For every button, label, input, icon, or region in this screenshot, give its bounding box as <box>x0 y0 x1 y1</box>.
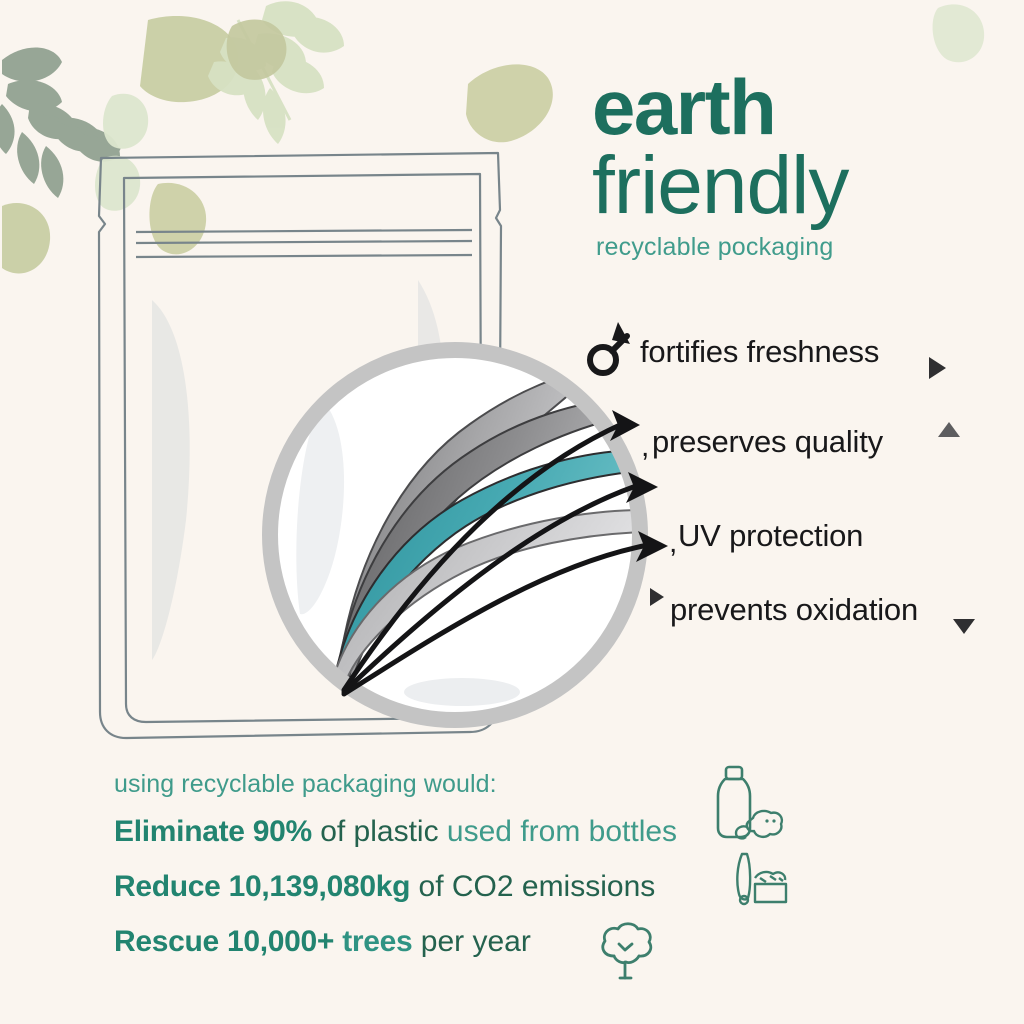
arrowhead-right-icon <box>929 357 946 379</box>
feature-tick-2: , <box>669 528 677 558</box>
stat-rescue-bold: Rescue 10,000+ <box>114 925 334 958</box>
arrowhead-down-icon <box>953 619 975 634</box>
co2-cloud-icon <box>733 808 785 842</box>
stat-rescue-normal: per year <box>412 925 530 958</box>
poster-canvas: earth friendly recyclable pockaging fort… <box>0 0 1024 1024</box>
stat-eliminate-tail: used from bottles <box>439 815 677 848</box>
feature-tick-1: , <box>641 432 649 462</box>
stat-eliminate-normal: of plastic <box>312 815 439 848</box>
headline-subtitle: recyclable pockaging <box>596 232 992 262</box>
page-title: earth friendly recyclable pockaging <box>592 72 992 262</box>
tree-icon <box>592 920 658 982</box>
stat-reduce-bold: Reduce 10,139,080kg <box>114 870 410 903</box>
stats-intro: using recyclable packaging would: <box>114 770 894 799</box>
feature-label-fortifies-freshness: fortifies freshness <box>640 334 879 370</box>
headline-line-2: friendly <box>592 146 992 226</box>
feature-label-prevents-oxidation: prevents oxidation <box>670 592 918 628</box>
stat-rescue: Rescue 10,000+ trees per year <box>114 927 894 957</box>
stat-rescue-bold-2: trees <box>334 925 412 958</box>
mars-glyph-arrow-icon <box>586 318 632 378</box>
feature-label-preserves-quality: preserves quality <box>652 424 883 460</box>
feature-label-uv-protection: UV protection <box>678 518 863 554</box>
factory-icon <box>733 848 789 906</box>
arrowhead-up-icon <box>938 422 960 437</box>
arrowhead-right-small-icon <box>650 588 664 606</box>
headline-line-1: earth <box>592 72 992 144</box>
stat-reduce-normal: of CO2 emissions <box>410 870 655 903</box>
stat-eliminate-bold: Eliminate 90% <box>114 815 312 848</box>
